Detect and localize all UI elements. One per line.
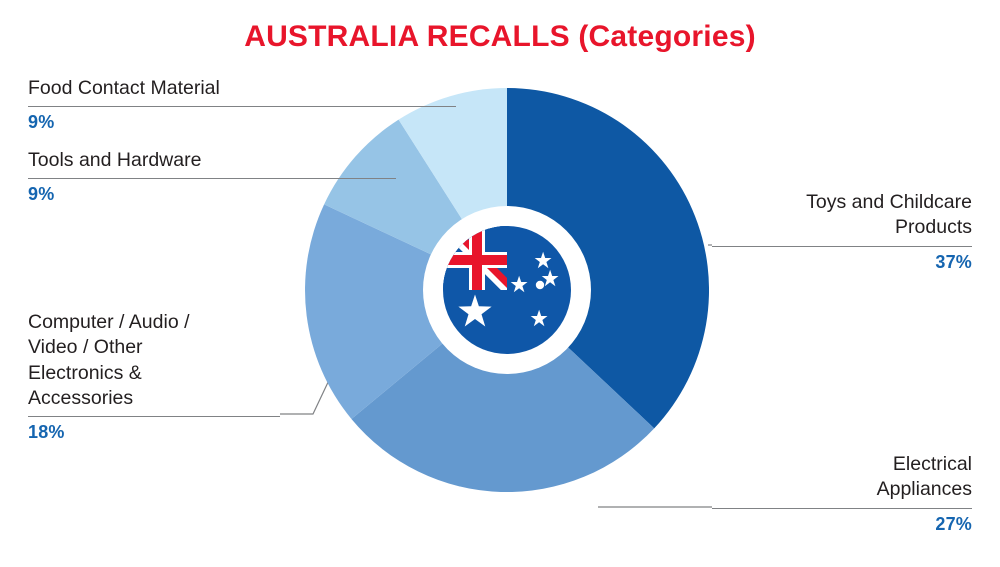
star-epsilon-crucis: [536, 281, 544, 289]
callout-percent: 37%: [712, 252, 972, 273]
callout-label: Toys and Childcare Products: [712, 190, 972, 241]
callout-tools-and-hardware[interactable]: Tools and Hardware 9%: [28, 148, 396, 205]
callout-rule: [28, 106, 456, 107]
callout-electrical-appliances[interactable]: Electrical Appliances 27%: [712, 452, 972, 535]
callout-rule: [28, 416, 280, 417]
callout-label: Tools and Hardware: [28, 148, 396, 173]
page-title: AUSTRALIA RECALLS (Categories): [0, 20, 1000, 54]
callout-percent: 9%: [28, 112, 456, 133]
callout-label: Food Contact Material: [28, 76, 456, 101]
callout-label: Electrical Appliances: [712, 452, 972, 503]
callout-percent: 27%: [712, 514, 972, 535]
callout-percent: 18%: [28, 422, 280, 443]
australia-flag-badge: [443, 226, 571, 354]
callout-food-contact-material[interactable]: Food Contact Material 9%: [28, 76, 456, 133]
callout-percent: 9%: [28, 184, 396, 205]
callout-rule: [712, 508, 972, 509]
callout-label: Computer / Audio / Video / Other Electro…: [28, 310, 280, 411]
callout-rule: [28, 178, 396, 179]
callout-rule: [712, 246, 972, 247]
callout-computer-audio-video[interactable]: Computer / Audio / Video / Other Electro…: [28, 310, 280, 443]
callout-toys-and-childcare-products[interactable]: Toys and Childcare Products 37%: [712, 190, 972, 273]
